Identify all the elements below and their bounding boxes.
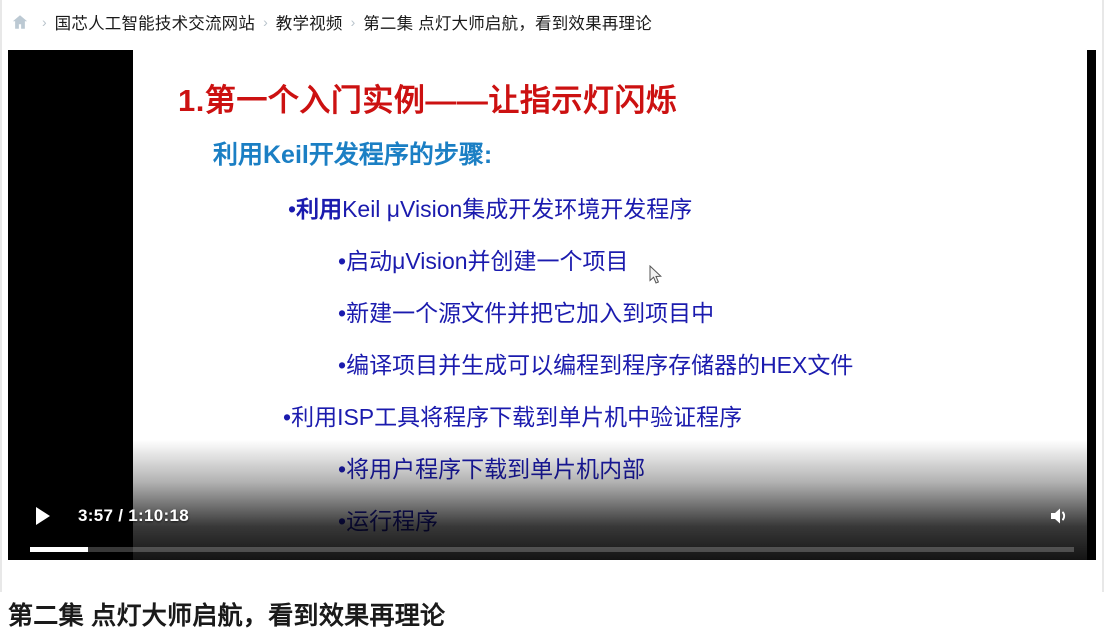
slide-content: 1.第一个入门实例——让指示灯闪烁 利用Keil开发程序的步骤: •利用Keil… (133, 50, 1087, 560)
slide-bullet-4: •编译项目并生成可以编程到程序存储器的HEX文件 (338, 346, 853, 380)
bullet-text: 将用户程序下载到单片机内部 (346, 456, 645, 482)
time-display: 3:57 / 1:10:18 (78, 506, 189, 526)
page-border-left (0, 0, 2, 635)
bullet-marker: • (338, 248, 346, 274)
bullet-text: 启动μVision并创建一个项目 (346, 248, 628, 274)
bullet-text: 新建一个源文件并把它加入到项目中 (346, 300, 714, 326)
slide-bullet-1: •利用Keil μVision集成开发环境开发程序 (288, 190, 692, 224)
slide-bullet-5: •利用ISP工具将程序下载到单片机中验证程序 (283, 398, 742, 432)
bullet-text: Keil μVision集成开发环境开发程序 (342, 196, 692, 222)
play-button[interactable] (30, 503, 56, 529)
home-icon[interactable] (10, 12, 30, 32)
breadcrumb: › 国芯人工智能技术交流网站 › 教学视频 › 第二集 点灯大师启航，看到效果再… (0, 0, 1104, 44)
progress-fill (30, 547, 88, 552)
bullet-marker: • (283, 404, 291, 430)
breadcrumb-separator-0: › (42, 15, 47, 29)
slide-title: 1.第一个入门实例——让指示灯闪烁 (178, 75, 677, 120)
bullet-marker: • (288, 196, 296, 222)
breadcrumb-item-site[interactable]: 国芯人工智能技术交流网站 (55, 10, 255, 34)
bullet-marker: • (338, 352, 346, 378)
bullet-text: 利用ISP工具将程序下载到单片机中验证程序 (291, 404, 742, 430)
mouse-cursor-icon (649, 265, 663, 285)
slide-bullet-2: •启动μVision并创建一个项目 (338, 242, 629, 276)
video-player[interactable]: 1.第一个入门实例——让指示灯闪烁 利用Keil开发程序的步骤: •利用Keil… (8, 50, 1096, 560)
bullet-marker: • (338, 300, 346, 326)
slide-canvas: 1.第一个入门实例——让指示灯闪烁 利用Keil开发程序的步骤: •利用Keil… (133, 50, 1087, 560)
player-controls: 3:57 / 1:10:18 (8, 494, 1096, 538)
breadcrumb-item-current: 第二集 点灯大师启航，看到效果再理论 (363, 10, 652, 34)
breadcrumb-separator-1: › (263, 15, 268, 29)
page-title: 第二集 点灯大师启航，看到效果再理论 (0, 592, 1104, 635)
slide-bullet-3: •新建一个源文件并把它加入到项目中 (338, 294, 714, 328)
bullet-bold-prefix: 利用 (296, 196, 342, 222)
progress-bar[interactable] (30, 547, 1074, 552)
breadcrumb-separator-2: › (351, 15, 356, 29)
bullet-marker: • (338, 456, 346, 482)
slide-bullet-6: •将用户程序下载到单片机内部 (338, 450, 645, 484)
slide-subtitle: 利用Keil开发程序的步骤: (213, 135, 492, 171)
breadcrumb-item-category[interactable]: 教学视频 (276, 10, 343, 34)
volume-icon[interactable] (1046, 502, 1074, 530)
bullet-text: 编译项目并生成可以编程到程序存储器的HEX文件 (346, 352, 853, 378)
